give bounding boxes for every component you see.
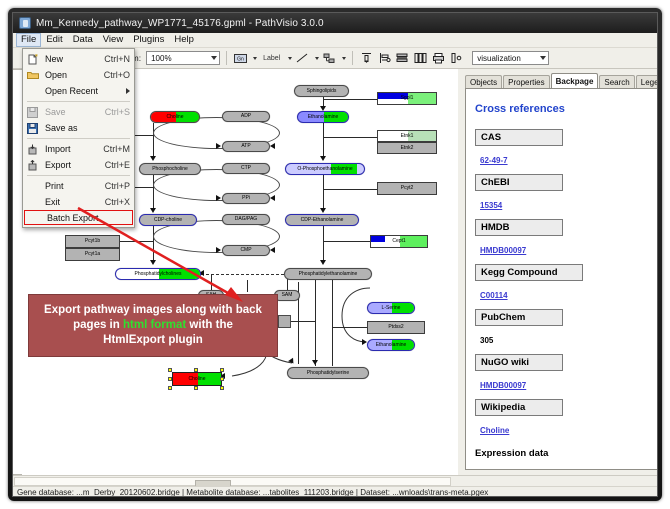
menu-item-label: Import (40, 144, 97, 154)
visualization-combo[interactable]: visualization (472, 51, 549, 65)
node-cdp-ethanolamine[interactable]: CDP-Ethanolamine (285, 214, 359, 226)
callout-line-2: pages in html format with the (73, 318, 233, 333)
menu-data[interactable]: Data (68, 33, 98, 47)
menu-item-save-as[interactable]: Save as (23, 120, 134, 136)
save-as-icon (25, 122, 40, 135)
menu-item-label: Save (40, 107, 99, 117)
node-label: Phosphocholine (152, 167, 188, 172)
arrow-icon (270, 195, 275, 201)
edge (120, 241, 153, 242)
menu-item-accel: Ctrl+N (98, 54, 130, 64)
menu-item-label: Batch Export (42, 213, 128, 223)
node-ppi[interactable]: PPi (222, 193, 270, 204)
edge (153, 226, 154, 263)
selection-handle[interactable] (168, 377, 172, 381)
menu-view[interactable]: View (98, 33, 128, 47)
node-label: Etnk2 (401, 146, 414, 151)
node-label: Etnk1 (401, 134, 414, 139)
edge (247, 280, 248, 292)
node-atp[interactable]: ATP (222, 141, 270, 152)
menu-item-exit[interactable]: Exit Ctrl+X (23, 194, 134, 210)
align-left-icon[interactable] (377, 51, 392, 66)
file-menu-dropdown[interactable]: New Ctrl+N Open Ctrl+O Open Recent (22, 48, 135, 228)
node-phosphatidylserine[interactable]: Phosphatidylserine (287, 367, 369, 379)
node-pcyt1b[interactable]: Pcyt1b (65, 235, 120, 248)
node-pcyt1a[interactable]: Pcyt1a (65, 248, 120, 261)
menu-item-export[interactable]: Export Ctrl+E (23, 157, 134, 173)
node-label: CDP-Ethanolamine (301, 218, 344, 223)
menu-item-accel: Ctrl+E (99, 160, 130, 170)
node-phosphatidylethanolamine[interactable]: Phosphatidylethanolamine (284, 268, 372, 280)
align-top-icon[interactable] (359, 51, 374, 66)
xref-value-hmdb[interactable]: HMDB00097 (480, 246, 526, 255)
arrow-icon (270, 143, 275, 149)
node-choline-selected[interactable]: Choline (172, 372, 222, 386)
node-label: Cept1 (392, 239, 405, 244)
callout-line-2a: pages in (73, 319, 123, 331)
window-title: Mm_Kennedy_pathway_WP1771_45176.gpml - P… (36, 18, 324, 29)
callout-highlight: html format (123, 319, 186, 331)
menu-item-label: Open Recent (40, 86, 126, 96)
node-label: Pcyt1b (85, 239, 100, 244)
screenshot-root: Mm_Kennedy_pathway_WP1771_45176.gpml - P… (0, 0, 670, 509)
menu-item-batch-export[interactable]: Batch Export (24, 210, 133, 225)
xref-header-wikipedia: Wikipedia (475, 399, 563, 416)
menu-item-print[interactable]: Print Ctrl+P (23, 178, 134, 194)
node-adp[interactable]: ADP (222, 111, 270, 122)
interaction-dropdown-icon[interactable] (342, 57, 346, 60)
menu-item-import[interactable]: Import Ctrl+M (23, 141, 134, 157)
arrow-icon (150, 260, 156, 265)
arrow-icon (270, 247, 275, 253)
open-folder-icon (25, 69, 40, 82)
callout-line-3: HtmlExport plugin (103, 333, 203, 348)
export-icon (25, 159, 40, 172)
selection-handle[interactable] (168, 368, 172, 372)
blank-icon (25, 85, 40, 98)
selection-handle[interactable] (168, 386, 172, 390)
selection-handle[interactable] (194, 368, 198, 372)
node-sphingolipids[interactable]: Sphingolipids (294, 85, 349, 97)
xref-value-kegg[interactable]: C00114 (480, 291, 508, 300)
arrow-icon (320, 156, 326, 161)
node-label: ADP (241, 114, 251, 119)
annotation-callout: Export pathway images along with back pa… (28, 294, 278, 357)
selection-handle[interactable] (220, 368, 224, 372)
interaction-tool-icon[interactable] (322, 51, 337, 66)
arrow-icon (320, 208, 326, 213)
edge (323, 99, 377, 100)
node-cmp[interactable]: CMP (222, 245, 270, 256)
arrow-icon (320, 260, 326, 265)
node-label: Choline (167, 115, 184, 120)
tab-backpage[interactable]: Backpage (551, 73, 599, 88)
node-ethanolamine-bottom[interactable]: Ethanolamine (367, 339, 415, 351)
selection-handle[interactable] (220, 377, 224, 381)
toolbar-separator-2 (352, 51, 353, 65)
node-label: PPi (242, 196, 250, 201)
edge (323, 226, 324, 263)
node-o-phosphoethanolamine[interactable]: O-Phosphoethanolamine (285, 163, 365, 175)
node-label: Pcyt1a (85, 252, 100, 257)
node-label: Pcyt2 (401, 186, 414, 191)
menu-separator (27, 175, 130, 176)
blank-icon (25, 180, 40, 193)
node-ctp[interactable]: CTP (222, 163, 270, 174)
edge (323, 189, 377, 190)
edge (211, 274, 212, 290)
node-label: O-Phosphoethanolamine (297, 167, 352, 172)
chevron-down-icon (211, 56, 217, 60)
node-pcyt2[interactable]: Pcyt2 (377, 182, 437, 195)
menu-item-label: Print (40, 181, 99, 191)
menu-item-open[interactable]: Open Ctrl+O (23, 67, 134, 83)
tab-legend[interactable]: Legend (636, 75, 658, 88)
xref-header-pubchem: PubChem (475, 309, 563, 326)
layout-icon[interactable] (449, 51, 464, 66)
tab-search[interactable]: Search (599, 75, 634, 88)
window-frame: Mm_Kennedy_pathway_WP1771_45176.gpml - P… (8, 8, 662, 501)
menu-item-label: Open (40, 70, 98, 80)
node-choline[interactable]: Choline (150, 111, 200, 123)
menu-file[interactable]: File (16, 33, 41, 47)
edge (291, 321, 315, 322)
edge (332, 327, 367, 328)
arrow-icon (150, 156, 156, 161)
label-dropdown-icon[interactable] (288, 57, 292, 60)
node-l-serine[interactable]: L-Serine (367, 302, 415, 314)
node-label: SAM (282, 293, 293, 298)
node-phosphocholine[interactable]: Phosphocholine (139, 163, 201, 175)
selection-handle[interactable] (220, 386, 224, 390)
menu-help[interactable]: Help (169, 33, 199, 47)
menu-item-label: Exit (40, 197, 99, 207)
cross-references-title: Cross references (475, 103, 649, 115)
submenu-arrow-icon (126, 88, 130, 94)
new-file-icon (25, 53, 40, 66)
node-label: CMP (240, 248, 251, 253)
distribute-icon[interactable] (395, 51, 410, 66)
datanode-tool-icon[interactable]: Gn (233, 51, 248, 66)
visualization-value: visualization (477, 54, 521, 63)
menu-item-open-recent[interactable]: Open Recent (23, 83, 134, 99)
blank-icon (27, 211, 42, 224)
menu-item-save: Save Ctrl+S (23, 104, 134, 120)
node-sgpl1[interactable]: Sgpl1 (377, 92, 437, 105)
edge (323, 175, 324, 211)
xref-value-chebi[interactable]: 15354 (480, 201, 502, 210)
xref-value-cas[interactable]: 62-49-7 (480, 156, 508, 165)
zoom-value: 100% (151, 54, 171, 63)
node-label: Sgpl1 (401, 96, 414, 101)
xref-header-hmdb: HMDB (475, 219, 563, 236)
menu-item-accel: Ctrl+P (99, 181, 130, 191)
node-label: Sphingolipids (307, 89, 337, 94)
zoom-combo[interactable]: 100% (146, 51, 220, 65)
arrow-icon (216, 247, 221, 253)
blank-icon (25, 196, 40, 209)
menu-item-label: New (40, 54, 98, 64)
menu-edit[interactable]: Edit (41, 33, 67, 47)
node-etnk2[interactable]: Etnk2 (377, 142, 437, 154)
group-icon[interactable] (413, 51, 428, 66)
xref-header-nugo: NuGO wiki (475, 354, 563, 371)
node-label: Phosphatidylethanolamine (299, 272, 358, 277)
menu-item-new[interactable]: New Ctrl+N (23, 51, 134, 67)
side-panel: Objects Properties Backpage Search Legen… (460, 69, 658, 475)
menu-bar: File Edit Data View Plugins Help (13, 33, 658, 48)
svg-text:Gn: Gn (237, 56, 244, 62)
edge (323, 241, 370, 242)
window-inner: Mm_Kennedy_pathway_WP1771_45176.gpml - P… (12, 12, 658, 497)
arrow-icon (216, 143, 221, 149)
menu-item-accel: Ctrl+S (99, 107, 130, 117)
node-label: Choline (189, 377, 206, 382)
xref-value-wikipedia[interactable]: Choline (480, 426, 509, 435)
arrow-icon (216, 195, 221, 201)
menu-item-accel: Ctrl+M (97, 144, 130, 154)
label-tool[interactable]: Label (260, 51, 283, 65)
node-label: L-Serine (382, 306, 401, 311)
node-phosphatidylcholines[interactable]: Phosphatidylcholines (115, 268, 201, 280)
node-label: Ethanolamine (308, 115, 339, 120)
menu-item-label: Save as (40, 123, 124, 133)
tab-properties[interactable]: Properties (503, 75, 549, 88)
node-cdp-choline[interactable]: CDP-choline (139, 214, 197, 226)
xref-value-nugo[interactable]: HMDB00097 (480, 381, 526, 390)
tab-objects[interactable]: Objects (465, 75, 502, 88)
edge (323, 123, 324, 159)
node-dag-pag[interactable]: DAG/PAG (222, 214, 270, 225)
backpage-content: Cross references CAS 62-49-7 ChEBI 15354… (465, 89, 658, 470)
selection-handle[interactable] (194, 386, 198, 390)
xref-value-pubchem: 305 (480, 336, 493, 345)
node-label: CDP-choline (154, 218, 182, 223)
edge-dashed (201, 274, 284, 275)
node-label: Ethanolamine (376, 343, 407, 348)
pathvisio-icon (19, 17, 31, 29)
callout-line-2b: with the (186, 319, 233, 331)
chevron-down-icon-2 (540, 56, 546, 60)
node-label: Phosphatidylcholines (135, 272, 182, 277)
import-icon (25, 143, 40, 156)
xref-header-kegg: Kegg Compound (475, 264, 583, 281)
datanode-dropdown-icon[interactable] (253, 57, 257, 60)
edge (323, 137, 377, 138)
node-cept1[interactable]: Cept1 (370, 235, 428, 248)
print-icon[interactable] (431, 51, 446, 66)
arrow-icon (150, 208, 156, 213)
canvas-hscrollbar[interactable] (13, 475, 658, 486)
arrow-icon (312, 360, 318, 365)
toolbar-separator (226, 51, 227, 65)
line-tool-icon[interactable] (295, 51, 310, 66)
save-icon (25, 106, 40, 119)
xref-header-cas: CAS (475, 129, 563, 146)
menu-separator (27, 138, 130, 139)
menu-plugins[interactable]: Plugins (128, 33, 169, 47)
node-label: CTP (241, 166, 251, 171)
status-bar: Gene database: ...m_Derby_20120602.bridg… (13, 486, 658, 497)
menu-item-label: Export (40, 160, 99, 170)
title-bar: Mm_Kennedy_pathway_WP1771_45176.gpml - P… (13, 13, 658, 33)
node-ptdss2[interactable]: Ptdss2 (367, 321, 425, 334)
edge (315, 280, 316, 366)
callout-line-1: Export pathway images along with back (44, 303, 262, 318)
node-label: ATP (241, 144, 250, 149)
node-ethanolamine-top[interactable]: Ethanolamine (297, 111, 349, 123)
xref-header-chebi: ChEBI (475, 174, 563, 191)
node-label: DAG/PAG (235, 217, 257, 222)
status-text: Gene database: ...m_Derby_20120602.bridg… (17, 488, 488, 497)
expression-data-title: Expression data (475, 448, 649, 459)
node-etnk1[interactable]: Etnk1 (377, 130, 437, 142)
menu-separator (27, 101, 130, 102)
hscroll-track[interactable] (14, 477, 451, 486)
menu-item-accel: Ctrl+O (98, 70, 130, 80)
callout-connector-box (278, 315, 291, 328)
line-dropdown-icon[interactable] (315, 57, 319, 60)
node-label: Ptdss2 (388, 325, 403, 330)
node-label: Phosphatidylserine (307, 371, 349, 376)
side-panel-tabstrip: Objects Properties Backpage Search Legen… (465, 74, 658, 89)
menu-item-accel: Ctrl+X (99, 197, 130, 207)
